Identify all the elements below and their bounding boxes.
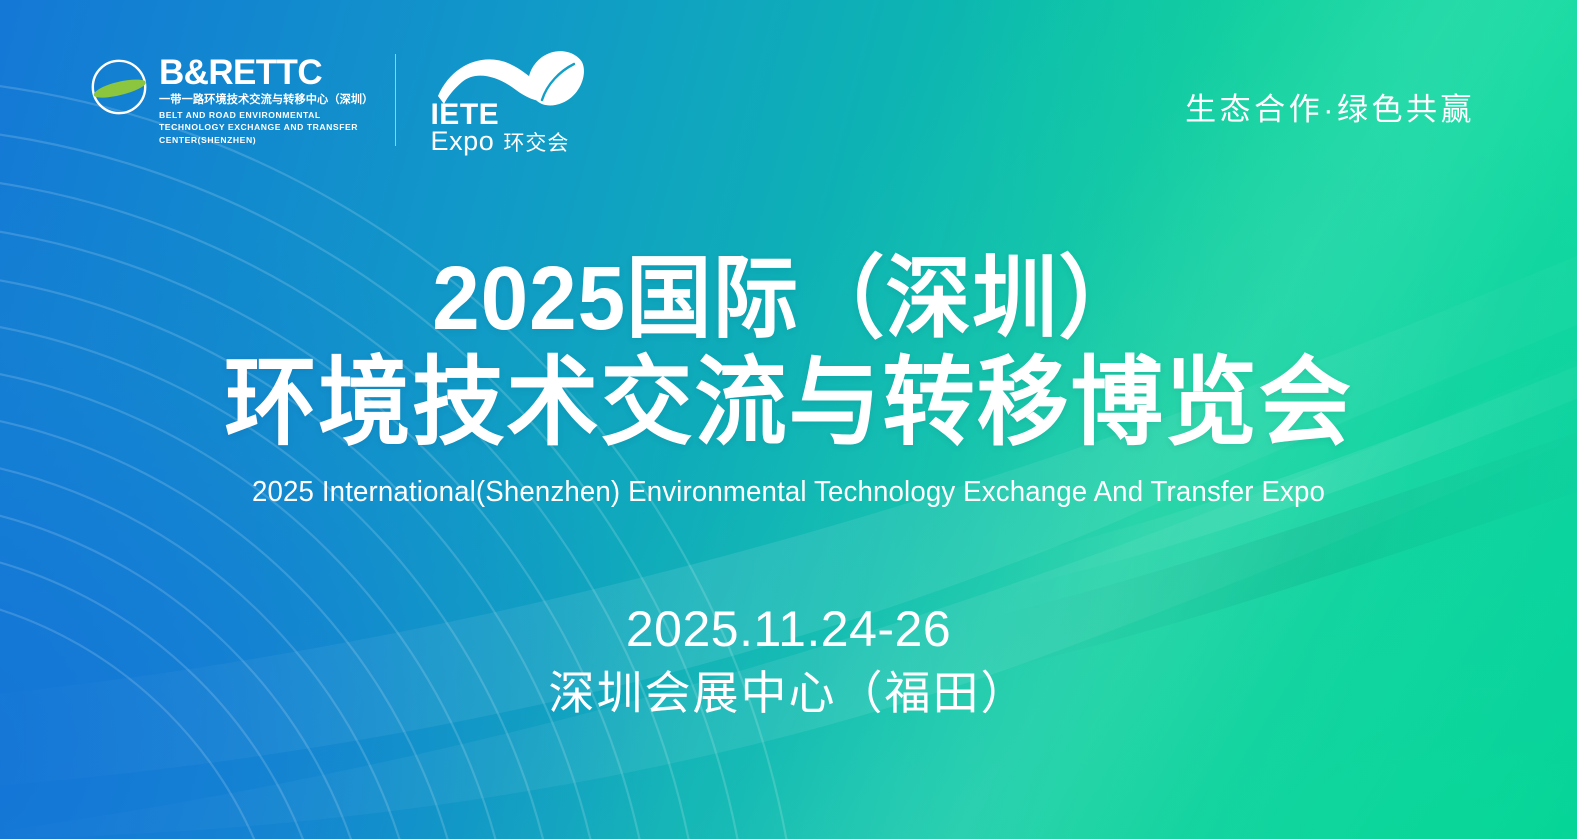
brettc-english-name: BELT AND ROAD ENVIRONMENTAL TECHNOLOGY E…: [159, 109, 364, 146]
event-date: 2025.11.24-26: [0, 600, 1577, 659]
iete-expo-logo[interactable]: IETE Expo 环交会: [430, 48, 602, 152]
expo-banner: B&RETTC 一带一路环境技术交流与转移中心（深圳） BELT AND ROA…: [0, 0, 1577, 839]
brettc-text-block: B&RETTC 一带一路环境技术交流与转移中心（深圳） BELT AND ROA…: [159, 54, 373, 146]
iete-expo-row: Expo 环交会: [430, 128, 569, 155]
brettc-chinese-name: 一带一路环境技术交流与转移中心（深圳）: [159, 93, 373, 108]
banner-header: B&RETTC 一带一路环境技术交流与转移中心（深圳） BELT AND ROA…: [0, 0, 1577, 200]
brettc-logo[interactable]: B&RETTC 一带一路环境技术交流与转移中心（深圳） BELT AND ROA…: [88, 54, 396, 146]
iete-expo-word: Expo: [430, 128, 494, 155]
subtitle-english: 2025 International(Shenzhen) Environment…: [24, 476, 1554, 509]
event-venue: 深圳会展中心（福田）: [0, 665, 1577, 721]
event-meta-block: 2025.11.24-26 深圳会展中心（福田）: [0, 600, 1577, 721]
globe-icon: [88, 58, 150, 116]
iete-chinese-short: 环交会: [503, 133, 569, 154]
logo-group: B&RETTC 一带一路环境技术交流与转移中心（深圳） BELT AND ROA…: [88, 48, 602, 152]
headline-block: 2025国际（深圳） 环境技术交流与转移博览会 2025 Internation…: [0, 255, 1577, 509]
title-line-one: 2025国际（深圳）: [39, 255, 1537, 343]
banner-slogan: 生态合作·绿色共赢: [1185, 84, 1475, 129]
title-line-two: 环境技术交流与转移博览会: [39, 355, 1537, 450]
brettc-wordmark: B&RETTC: [159, 55, 373, 90]
